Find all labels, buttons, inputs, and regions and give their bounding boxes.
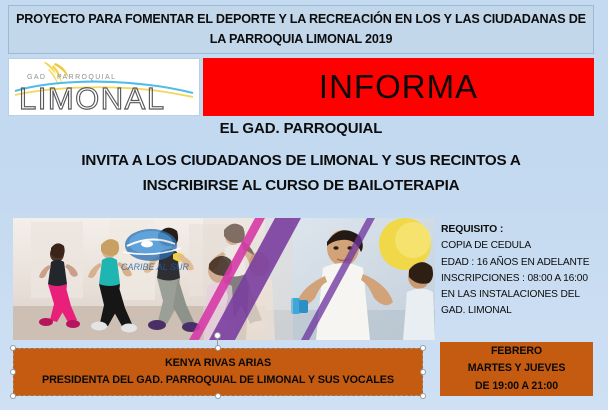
schedule-bar[interactable]: FEBRERO MARTES Y JUEVES DE 19:00 A 21:00 [440, 342, 593, 396]
schedule-hours: DE 19:00 A 21:00 [475, 378, 558, 395]
headline-line-1: EL GAD. PARROQUIAL [8, 120, 594, 137]
selection-handle-top-left[interactable] [10, 345, 16, 351]
requisitos-line: GAD. LIMONAL [441, 303, 605, 319]
logo-wordmark: LIMONAL [19, 81, 166, 115]
requisitos-title: REQUISITO : [441, 222, 605, 238]
selection-handle-top-center[interactable] [215, 345, 221, 351]
rotate-handle[interactable] [214, 332, 221, 339]
selection-handle-top-right[interactable] [420, 345, 426, 351]
requisitos-line: INSCRIPCIONES : 08:00 A 16:00 [441, 271, 605, 287]
headline-line-2: INVITA A LOS CIUDADANOS DE LIMONAL Y SUS… [8, 149, 594, 174]
selection-handle-middle-right[interactable] [420, 369, 426, 375]
headline-body: INVITA A LOS CIUDADANOS DE LIMONAL Y SUS… [8, 149, 594, 198]
headline-line-3: INSCRIBIRSE AL CURSO DE BAILOTERAPIA [8, 174, 594, 199]
logo-graphic: GAD PARROQUIAL LIMONAL [9, 59, 199, 115]
logo-gad-text: GAD [27, 74, 46, 81]
headline-block[interactable]: EL GAD. PARROQUIAL INVITA A LOS CIUDADAN… [8, 120, 594, 198]
informa-banner[interactable]: INFORMA [203, 58, 594, 116]
selection-handle-bottom-left[interactable] [10, 393, 16, 399]
selection-handle-bottom-right[interactable] [420, 393, 426, 399]
schedule-days: MARTES Y JUEVES [468, 360, 566, 377]
svg-text:CARIBE AL SUR: CARIBE AL SUR [121, 262, 190, 272]
bailoterapia-photo[interactable]: CARIBE AL SUR [13, 218, 435, 340]
selection-handle-bottom-center[interactable] [215, 393, 221, 399]
signature-name: KENYA RIVAS ARIAS [165, 355, 271, 372]
logo-parroquial-text: PARROQUIAL [57, 74, 116, 81]
informa-label: INFORMA [319, 68, 478, 106]
signature-bar[interactable]: KENYA RIVAS ARIAS PRESIDENTA DEL GAD. PA… [13, 348, 423, 396]
presentation-slide: PROYECTO PARA FOMENTAR EL DEPORTE Y LA R… [0, 0, 608, 410]
page-title: PROYECTO PARA FOMENTAR EL DEPORTE Y LA R… [9, 10, 593, 49]
schedule-month: FEBRERO [491, 343, 542, 360]
requisitos-line: COPIA DE CEDULA [441, 238, 605, 254]
requisitos-line: EN LAS INSTALACIONES DEL [441, 287, 605, 303]
requisitos-block[interactable]: REQUISITO : COPIA DE CEDULA EDAD : 16 AÑ… [441, 222, 605, 319]
gad-limonal-logo[interactable]: GAD PARROQUIAL LIMONAL [8, 58, 200, 116]
selection-handle-middle-left[interactable] [10, 369, 16, 375]
slide-title-box[interactable]: PROYECTO PARA FOMENTAR EL DEPORTE Y LA R… [8, 5, 594, 54]
signature-role: PRESIDENTA DEL GAD. PARROQUIAL DE LIMONA… [42, 372, 394, 389]
requisitos-line: EDAD : 16 AÑOS EN ADELANTE [441, 255, 605, 271]
photo-image: CARIBE AL SUR [13, 218, 435, 340]
